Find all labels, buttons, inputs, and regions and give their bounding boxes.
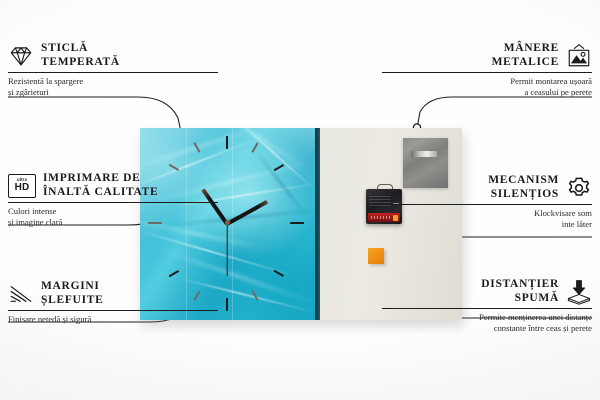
press-down-pad-icon bbox=[566, 279, 592, 305]
callout-subtitle: Finisare netedă și sigură bbox=[8, 314, 218, 325]
callout-foam-spacer: DISTANȚIER SPUMĂ Permite menținerea unei… bbox=[382, 278, 592, 333]
callout-rule bbox=[8, 72, 218, 73]
callout-subtitle: Permite menținerea unei distanțe constan… bbox=[382, 312, 592, 333]
wire-tempered-glass bbox=[8, 97, 181, 132]
callout-print-quality: ultra HD IMPRIMARE DE ÎNALTĂ CALITATE Cu… bbox=[8, 172, 218, 227]
callout-silent-mechanism: MECANISM SILENȚIOS Klockvisare som inte … bbox=[382, 174, 592, 229]
callout-rule bbox=[382, 204, 592, 205]
ultra-hd-badge-icon: ultra HD bbox=[8, 174, 36, 198]
foam-spacer-pad bbox=[368, 248, 384, 264]
callout-rule bbox=[8, 202, 218, 203]
callout-title: MECANISM SILENȚIOS bbox=[488, 174, 559, 201]
callout-rule bbox=[8, 310, 218, 311]
clock-center-cap bbox=[225, 220, 230, 225]
callout-metal-handles: MÂNERE METALICE Permit montarea ușoară a… bbox=[382, 42, 592, 97]
hd-badge-main-text: HD bbox=[15, 183, 30, 193]
callout-tempered-glass: STICLĂ TEMPERATĂ Rezistentă la spargere … bbox=[8, 42, 218, 97]
callout-title: STICLĂ TEMPERATĂ bbox=[41, 42, 120, 69]
callout-title: MÂNERE METALICE bbox=[492, 42, 559, 69]
gear-icon bbox=[566, 175, 592, 201]
clock-second-hand bbox=[226, 224, 227, 276]
callout-subtitle: Permit montarea ușoară a ceasului pe per… bbox=[382, 76, 592, 97]
callout-rule bbox=[382, 308, 592, 309]
wire-metal-handles bbox=[417, 97, 592, 128]
callout-subtitle: Culori intense și imagine clară bbox=[8, 206, 218, 227]
callout-title: IMPRIMARE DE ÎNALTĂ CALITATE bbox=[43, 172, 158, 199]
callout-title: MARGINI ȘLEFUITE bbox=[41, 280, 103, 307]
framed-picture-hanger-icon bbox=[566, 43, 592, 69]
beveled-edge-icon bbox=[8, 281, 34, 307]
callout-subtitle: Klockvisare som inte låter bbox=[382, 208, 592, 229]
diamond-icon bbox=[8, 43, 34, 69]
callout-polished-edges: MARGINI ȘLEFUITE Finisare netedă și sigu… bbox=[8, 280, 218, 325]
callout-title: DISTANȚIER SPUMĂ bbox=[481, 278, 559, 305]
callout-rule bbox=[382, 72, 592, 73]
callout-subtitle: Rezistentă la spargere și zgârieturi bbox=[8, 76, 218, 97]
infographic-canvas: STICLĂ TEMPERATĂ Rezistentă la spargere … bbox=[0, 0, 600, 400]
